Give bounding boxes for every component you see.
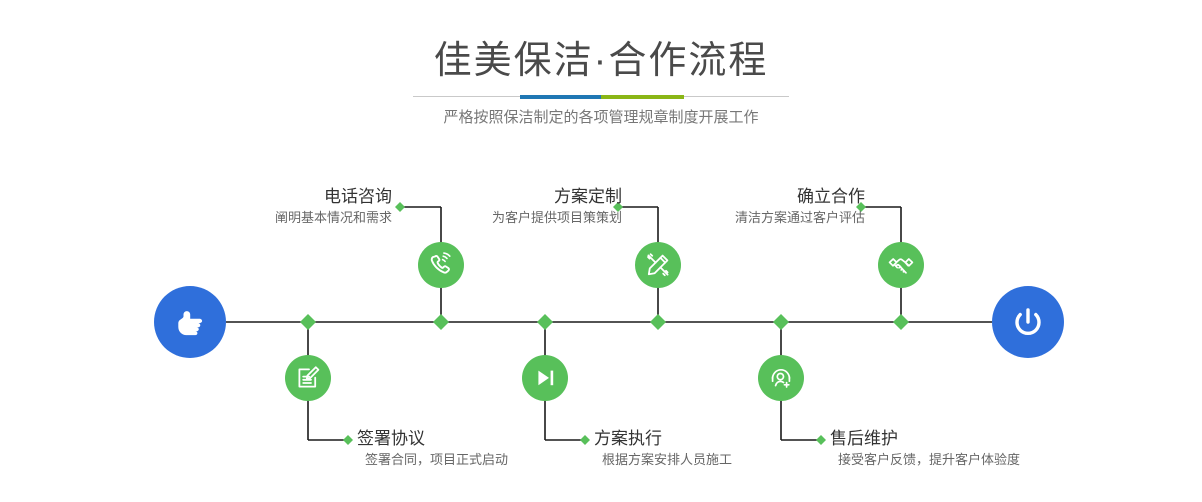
diamond-step-3 bbox=[650, 314, 666, 330]
label-diamond-step-2 bbox=[343, 435, 353, 445]
step-label-4: 方案执行 根据方案安排人员施工 bbox=[594, 428, 732, 470]
cooperation-process-infographic: 佳美保洁·合作流程 严格按照保洁制定的各项管理规章制度开展工作 bbox=[0, 0, 1202, 502]
step-icon-2[interactable] bbox=[285, 355, 331, 401]
flow-connectors bbox=[0, 0, 1202, 502]
step-title-3: 方案定制 bbox=[492, 186, 622, 208]
step-title-4: 方案执行 bbox=[594, 428, 732, 450]
step-icon-3[interactable] bbox=[635, 242, 681, 288]
step-label-6: 售后维护 接受客户反馈，提升客户体验度 bbox=[830, 428, 1020, 470]
label-diamond-step-1 bbox=[395, 202, 405, 212]
pointing-hand-icon bbox=[170, 302, 210, 342]
step-desc-1: 阐明基本情况和需求 bbox=[275, 208, 392, 228]
start-endpoint[interactable] bbox=[154, 286, 226, 358]
end-endpoint[interactable] bbox=[992, 286, 1064, 358]
step-icon-1[interactable] bbox=[418, 242, 464, 288]
step-label-2: 签署协议 签署合同，项目正式启动 bbox=[357, 428, 508, 470]
step-desc-2: 签署合同，项目正式启动 bbox=[357, 450, 508, 470]
headset-support-icon bbox=[767, 364, 795, 392]
step-title-5: 确立合作 bbox=[735, 186, 865, 208]
diamond-step-6 bbox=[773, 314, 789, 330]
step-desc-4: 根据方案安排人员施工 bbox=[594, 450, 732, 470]
step-desc-3: 为客户提供项目策策划 bbox=[492, 208, 622, 228]
process-flow: 电话咨询 阐明基本情况和需求 方案定制 为客户提供项目策策划 bbox=[0, 0, 1202, 502]
label-diamond-step-4 bbox=[580, 435, 590, 445]
label-diamonds bbox=[343, 202, 866, 445]
diamond-step-2 bbox=[300, 314, 316, 330]
step-label-3: 方案定制 为客户提供项目策策划 bbox=[492, 186, 622, 228]
power-icon bbox=[1008, 302, 1048, 342]
diamond-step-4 bbox=[537, 314, 553, 330]
step-desc-6: 接受客户反馈，提升客户体验度 bbox=[830, 450, 1020, 470]
handshake-icon bbox=[887, 251, 915, 279]
step-icon-5[interactable] bbox=[878, 242, 924, 288]
step-label-5: 确立合作 清洁方案通过客户评估 bbox=[735, 186, 865, 228]
step-icon-6[interactable] bbox=[758, 355, 804, 401]
step-title-6: 售后维护 bbox=[830, 428, 1020, 450]
diamond-step-1 bbox=[433, 314, 449, 330]
label-diamond-step-6 bbox=[816, 435, 826, 445]
document-edit-icon bbox=[294, 364, 322, 392]
phone-call-icon bbox=[427, 251, 455, 279]
step-icon-4[interactable] bbox=[522, 355, 568, 401]
step-desc-5: 清洁方案通过客户评估 bbox=[735, 208, 865, 228]
diamond-step-5 bbox=[893, 314, 909, 330]
step-title-1: 电话咨询 bbox=[275, 186, 392, 208]
play-skip-icon bbox=[531, 364, 559, 392]
step-label-1: 电话咨询 阐明基本情况和需求 bbox=[275, 186, 392, 228]
step-title-2: 签署协议 bbox=[357, 428, 508, 450]
pencil-ruler-icon bbox=[644, 251, 672, 279]
